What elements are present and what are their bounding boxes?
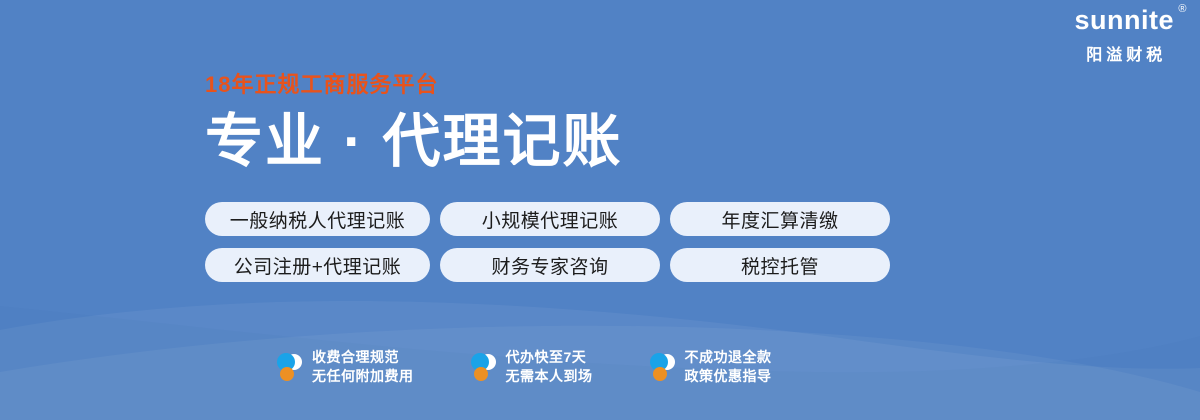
icon-orange-circle (653, 367, 667, 381)
brand-wordmark-text: sunnite (1074, 5, 1174, 35)
brand-logo: sunnite ® 阳溢财税 (1074, 6, 1174, 65)
service-pill[interactable]: 一般纳税人代理记账 (205, 202, 430, 236)
feature-line-primary: 收费合理规范 (312, 350, 414, 365)
eyebrow-text: 18年正规工商服务平台 (205, 74, 623, 96)
registered-trademark-icon: ® (1178, 3, 1187, 15)
icon-orange-circle (280, 367, 294, 381)
service-pill[interactable]: 年度汇算清缴 (670, 202, 890, 236)
service-pill-grid: 一般纳税人代理记账 小规模代理记账 年度汇算清缴 公司注册+代理记账 财务专家咨… (205, 202, 890, 282)
dual-circle-icon (275, 350, 303, 384)
feature-item: 收费合理规范 无任何附加费用 (275, 350, 414, 385)
promo-banner: sunnite ® 阳溢财税 18年正规工商服务平台 专业 · 代理记账 一般纳… (0, 0, 1200, 420)
feature-text: 收费合理规范 无任何附加费用 (312, 350, 414, 385)
service-pill[interactable]: 财务专家咨询 (440, 248, 660, 282)
feature-strip: 收费合理规范 无任何附加费用 代办快至7天 无需本人到场 不成功退全款 (275, 350, 772, 385)
feature-line-secondary: 无需本人到场 (506, 369, 593, 384)
feature-item: 代办快至7天 无需本人到场 (469, 350, 593, 385)
headline-block: 18年正规工商服务平台 专业 · 代理记账 (205, 74, 623, 173)
brand-chinese-name: 阳溢财税 (1074, 41, 1174, 65)
feature-text: 代办快至7天 无需本人到场 (506, 350, 593, 385)
service-pill[interactable]: 小规模代理记账 (440, 202, 660, 236)
page-title: 专业 · 代理记账 (205, 112, 623, 173)
feature-item: 不成功退全款 政策优惠指导 (648, 350, 772, 385)
dual-circle-icon (469, 350, 497, 384)
dual-circle-icon (648, 350, 676, 384)
feature-line-primary: 不成功退全款 (685, 350, 772, 365)
feature-line-secondary: 政策优惠指导 (685, 369, 772, 384)
icon-orange-circle (474, 367, 488, 381)
service-pill[interactable]: 税控托管 (670, 248, 890, 282)
brand-wordmark: sunnite ® (1074, 6, 1174, 36)
service-pill[interactable]: 公司注册+代理记账 (205, 248, 430, 282)
feature-text: 不成功退全款 政策优惠指导 (685, 350, 772, 385)
feature-line-secondary: 无任何附加费用 (312, 369, 414, 384)
feature-line-primary: 代办快至7天 (506, 350, 593, 365)
